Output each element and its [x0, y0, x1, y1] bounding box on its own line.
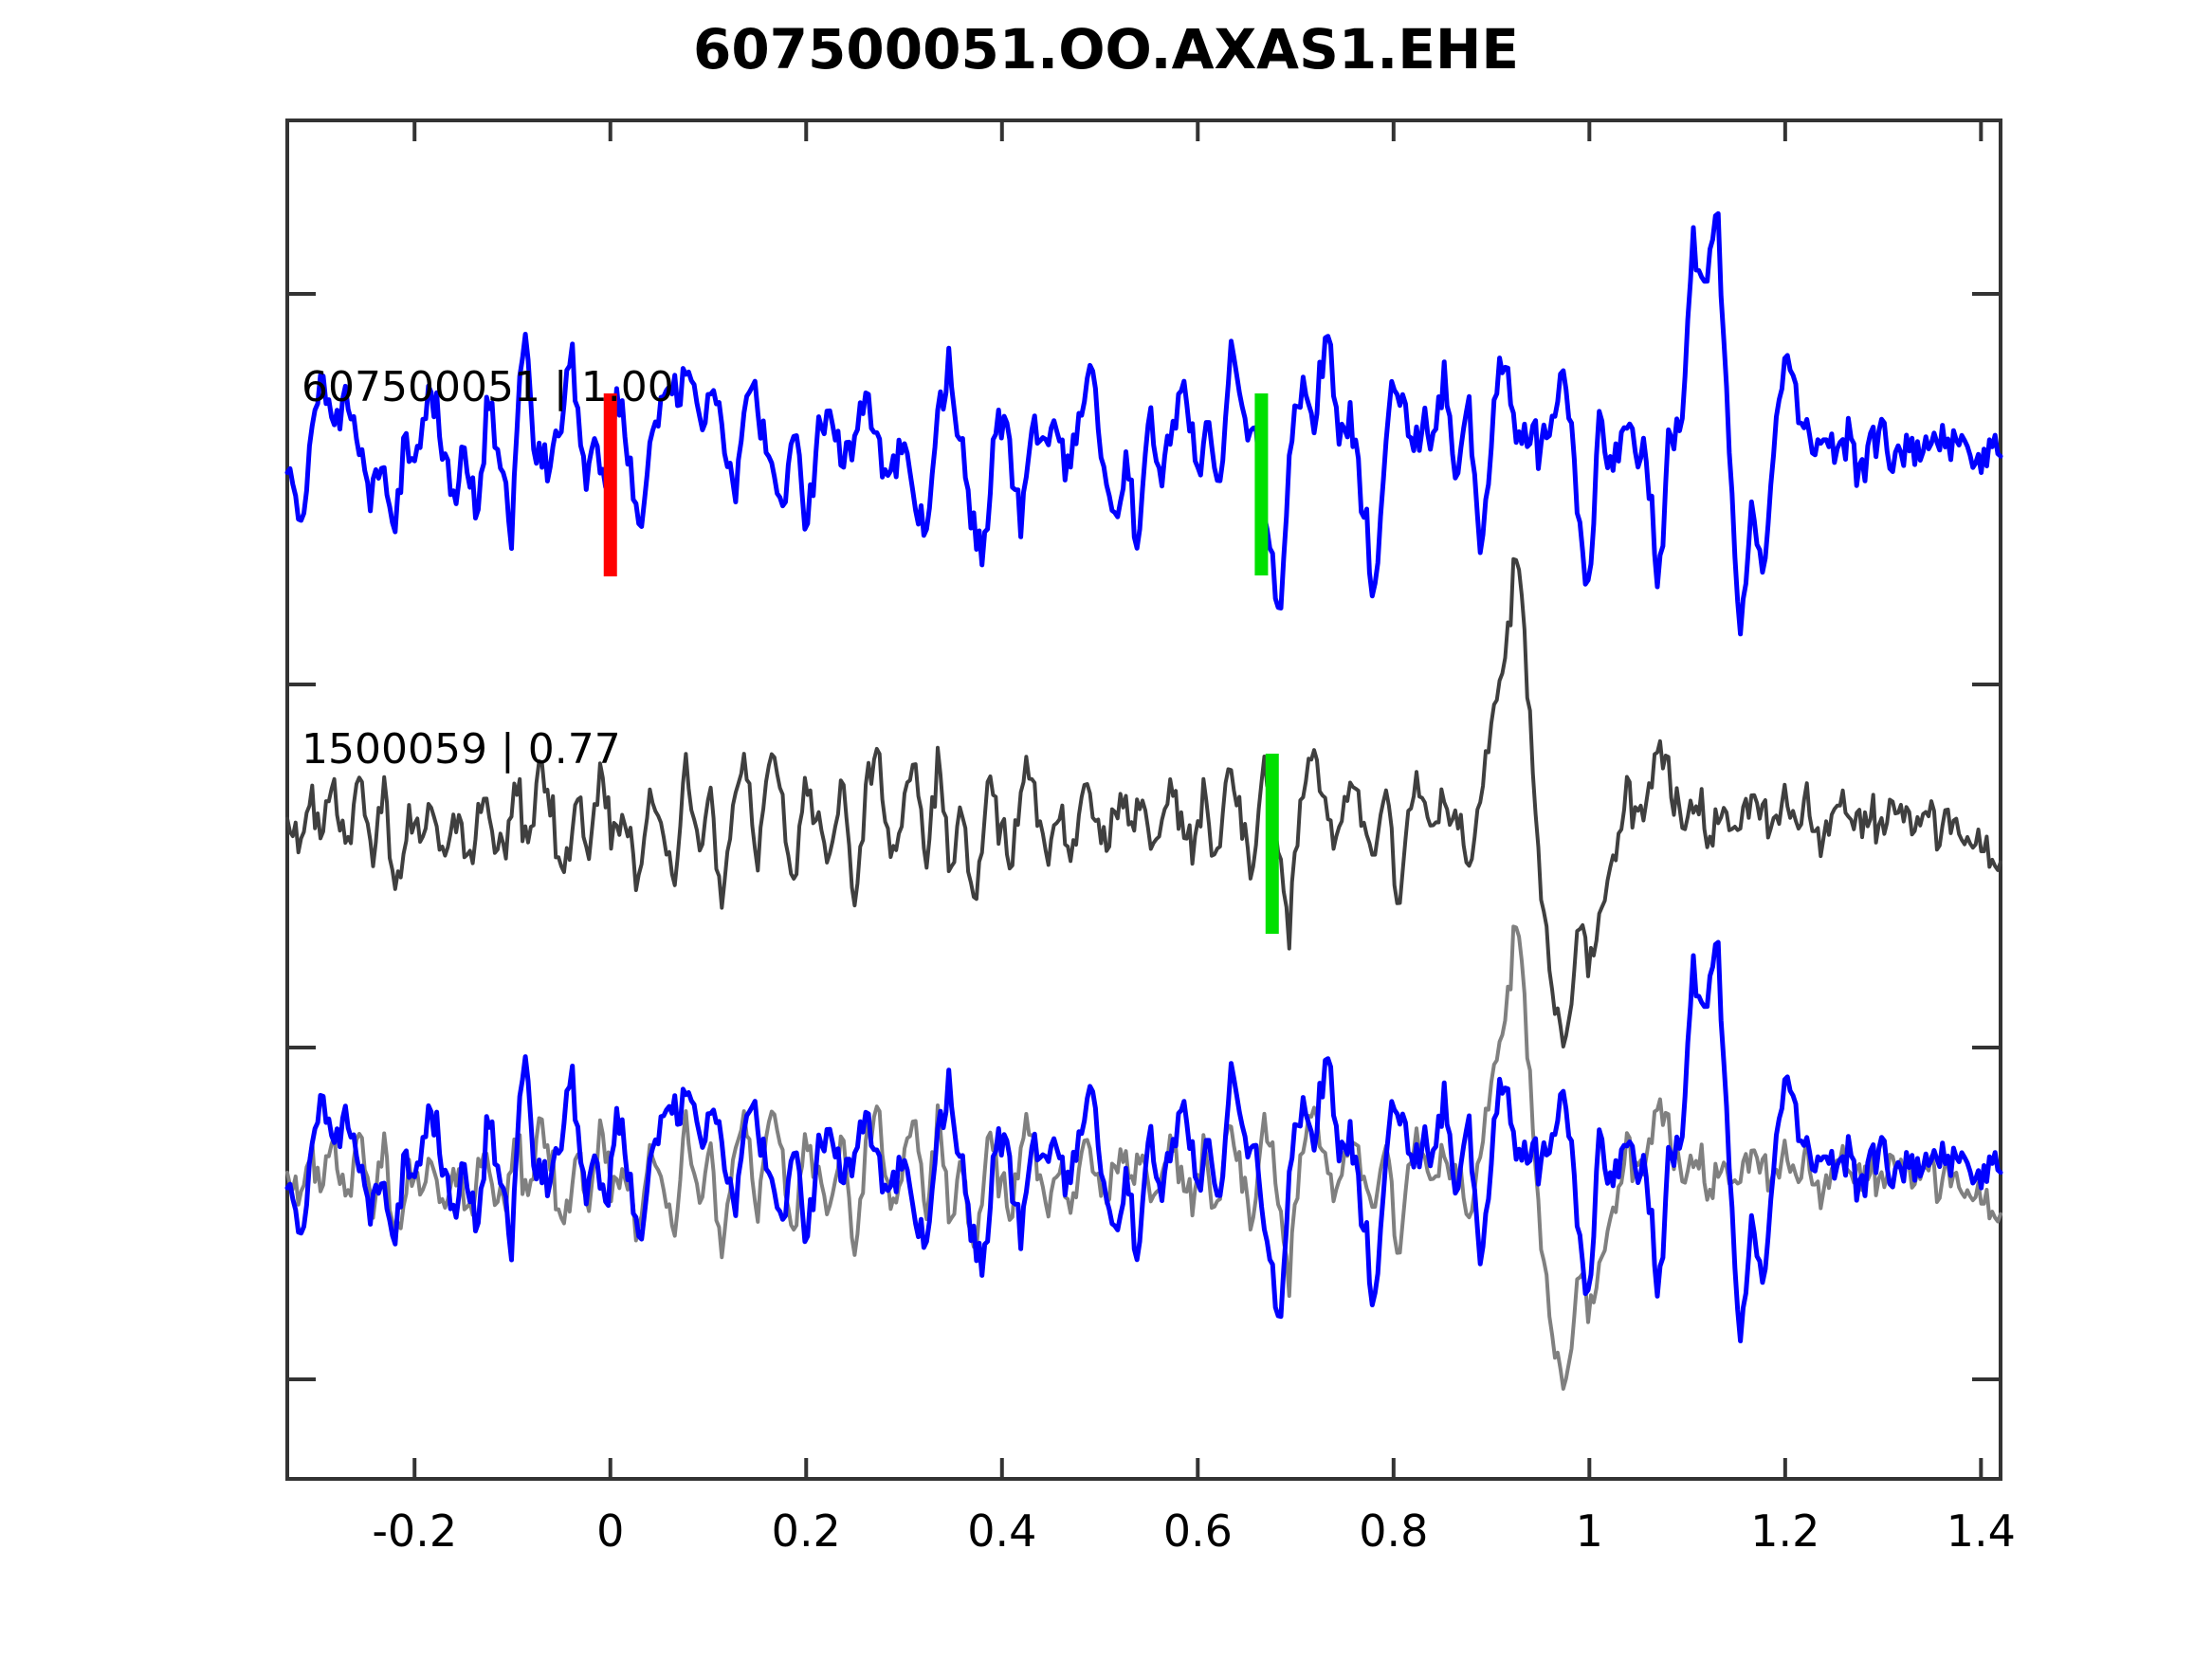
waveform-template	[287, 213, 2001, 634]
x-tick-label: 0.2	[772, 1505, 841, 1557]
phase-pick-template-marker	[1254, 393, 1268, 575]
waveform-detection	[287, 559, 2001, 1047]
x-tick-label: -0.2	[372, 1505, 457, 1557]
trace-label-template: 607500051 | 1.00	[302, 363, 674, 411]
x-tick-label: 0	[596, 1505, 624, 1557]
phase-pick-detection-marker	[1266, 754, 1279, 934]
pick-markers	[604, 393, 1279, 934]
plot-axes	[0, 0, 2212, 1659]
figure-canvas: 607500051.OO.AXAS1.EHE 607500051 | 1.00 …	[0, 0, 2212, 1659]
x-tick-label: 0.4	[967, 1505, 1036, 1557]
x-tick-label: 0.8	[1359, 1505, 1428, 1557]
origin-pick-marker	[604, 393, 617, 576]
x-tick-label: 1.4	[1947, 1505, 2016, 1557]
x-tick-label: 0.6	[1163, 1505, 1233, 1557]
x-tick-label: 1	[1576, 1505, 1603, 1557]
x-tick-label: 1.2	[1750, 1505, 1819, 1557]
trace-label-detection: 1500059 | 0.77	[302, 725, 621, 774]
